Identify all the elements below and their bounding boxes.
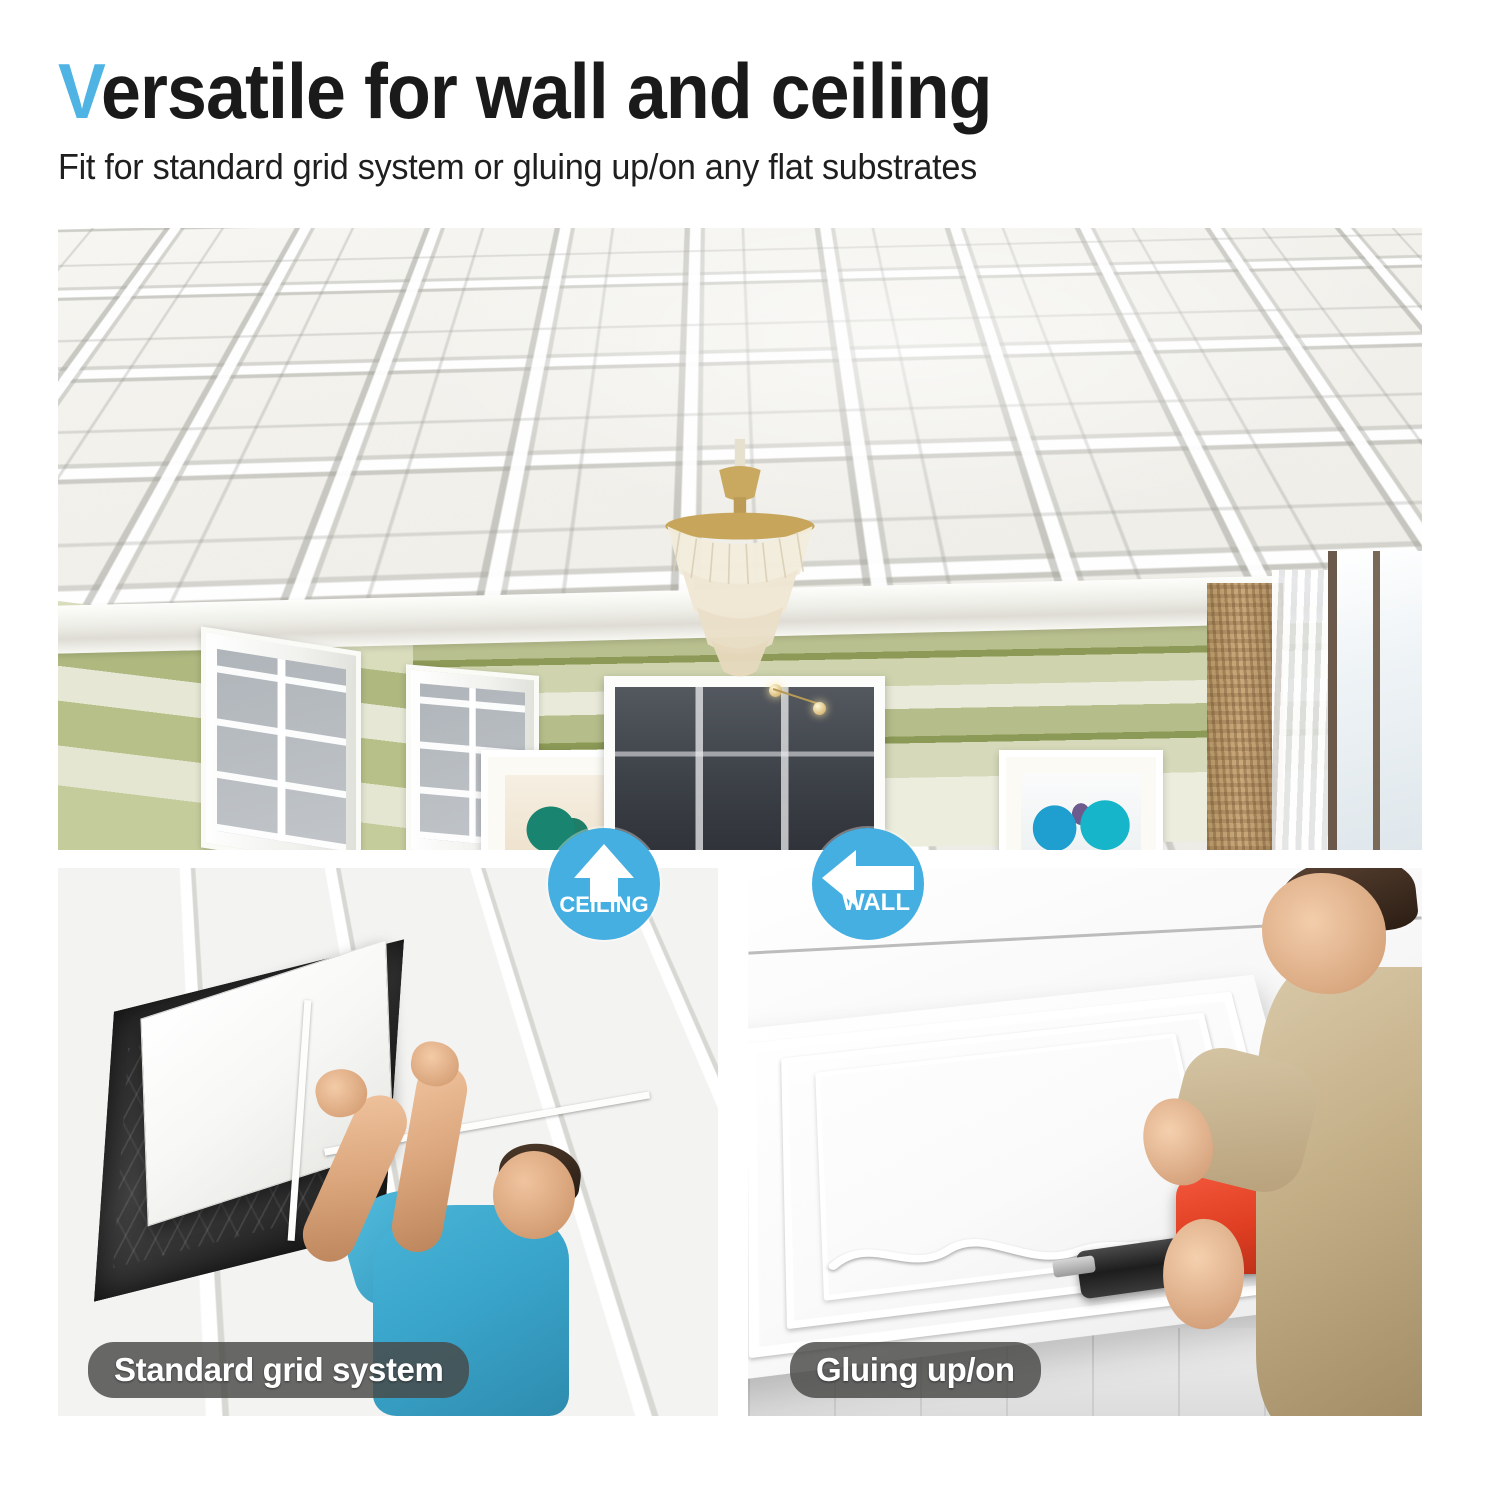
chandelier-icon	[624, 439, 856, 688]
installer-person	[1125, 868, 1422, 1416]
photo-gluing-up-on: BLACK&DECKER	[748, 868, 1422, 1416]
page-title-accent-letter: V	[58, 47, 101, 135]
door-glass-panes	[217, 648, 346, 850]
arrow-left-icon: WALL	[812, 828, 924, 940]
installer-head	[1262, 873, 1386, 994]
french-door-left	[201, 626, 361, 850]
framed-artwork-right	[999, 750, 1163, 850]
badge-ceiling: CEILING	[548, 828, 660, 940]
window	[1328, 551, 1422, 850]
badge-wall: WALL	[812, 828, 924, 940]
artwork-painting	[1021, 773, 1141, 850]
header: Versatile for wall and ceiling Fit for s…	[58, 52, 1438, 188]
caption-gluing-up-on: Gluing up/on	[790, 1342, 1041, 1398]
glue-scene: BLACK&DECKER	[748, 868, 1422, 1416]
page-title-rest: ersatile for wall and ceiling	[101, 47, 992, 135]
room-scene	[58, 228, 1422, 850]
pendant-rod	[773, 688, 821, 705]
arrow-up-icon: CEILING	[548, 828, 660, 940]
installer-hand-lower	[1157, 1215, 1249, 1332]
photo-room-ceiling	[58, 228, 1422, 850]
badge-ceiling-label: CEILING	[559, 892, 648, 917]
installer-head	[493, 1151, 575, 1239]
grid-scene	[58, 868, 718, 1416]
badge-wall-label: WALL	[842, 889, 910, 916]
pendant-lights	[767, 682, 876, 726]
installer-shirt	[1256, 967, 1422, 1416]
caption-standard-grid-system: Standard grid system	[88, 1342, 469, 1398]
page-title: Versatile for wall and ceiling	[58, 52, 1328, 130]
photo-standard-grid-system	[58, 868, 718, 1416]
page-subtitle: Fit for standard grid system or gluing u…	[58, 146, 1369, 188]
